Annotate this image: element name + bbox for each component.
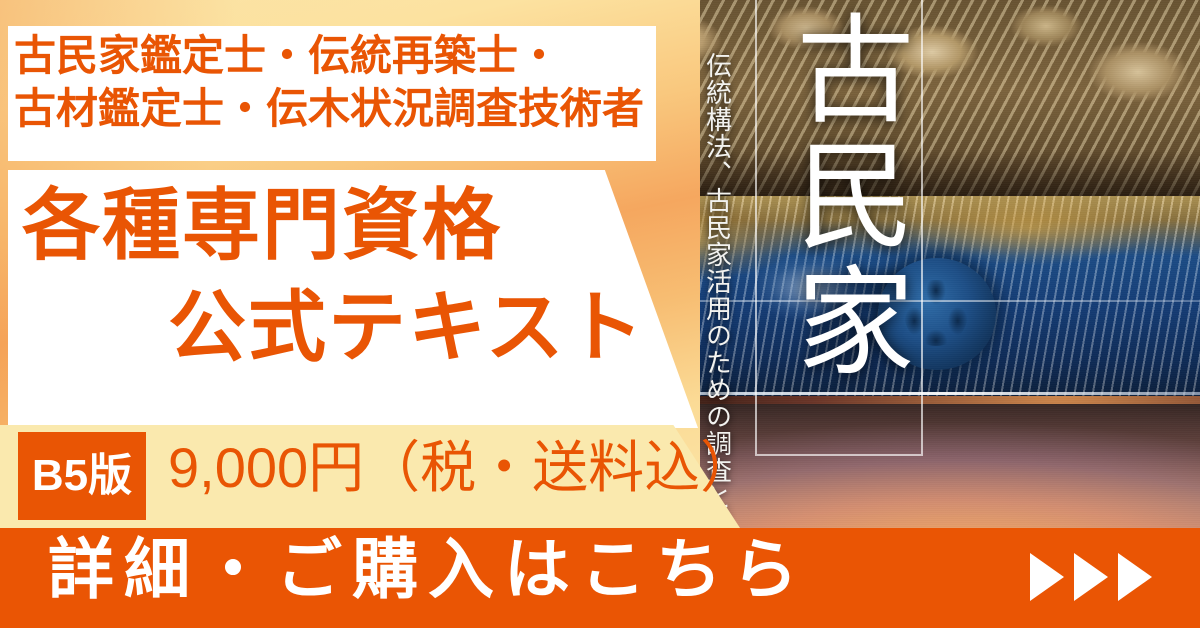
heading-line-1: 古民家鑑定士・伝統再築士・ [14, 30, 714, 83]
triangle-right-icon [1118, 553, 1152, 601]
format-badge-label: B5版 [32, 454, 132, 498]
triangle-right-icon [1074, 553, 1108, 601]
main-title-line-2: 公式テキスト [168, 288, 646, 366]
promo-banner: 古民家 伝統構法、古民家活用のための調査と再生の 古民家鑑定士・伝統再築士・ 古… [0, 0, 1200, 628]
price-text: 9,000円（税・送料込） [168, 440, 756, 496]
cover-title-text: 古民家 [758, 8, 918, 386]
cta-arrow-group [1030, 553, 1152, 601]
qualifications-heading: 古民家鑑定士・伝統再築士・ 古材鑑定士・伝木状況調査技術者 [14, 30, 714, 136]
main-title-line-1: 各種専門資格 [22, 186, 502, 264]
cta-label[interactable]: 詳細・ご購入はこちら [48, 536, 808, 602]
heading-line-2: 古材鑑定士・伝木状況調査技術者 [14, 83, 714, 136]
format-badge: B5版 [18, 432, 146, 520]
triangle-right-icon [1030, 553, 1064, 601]
